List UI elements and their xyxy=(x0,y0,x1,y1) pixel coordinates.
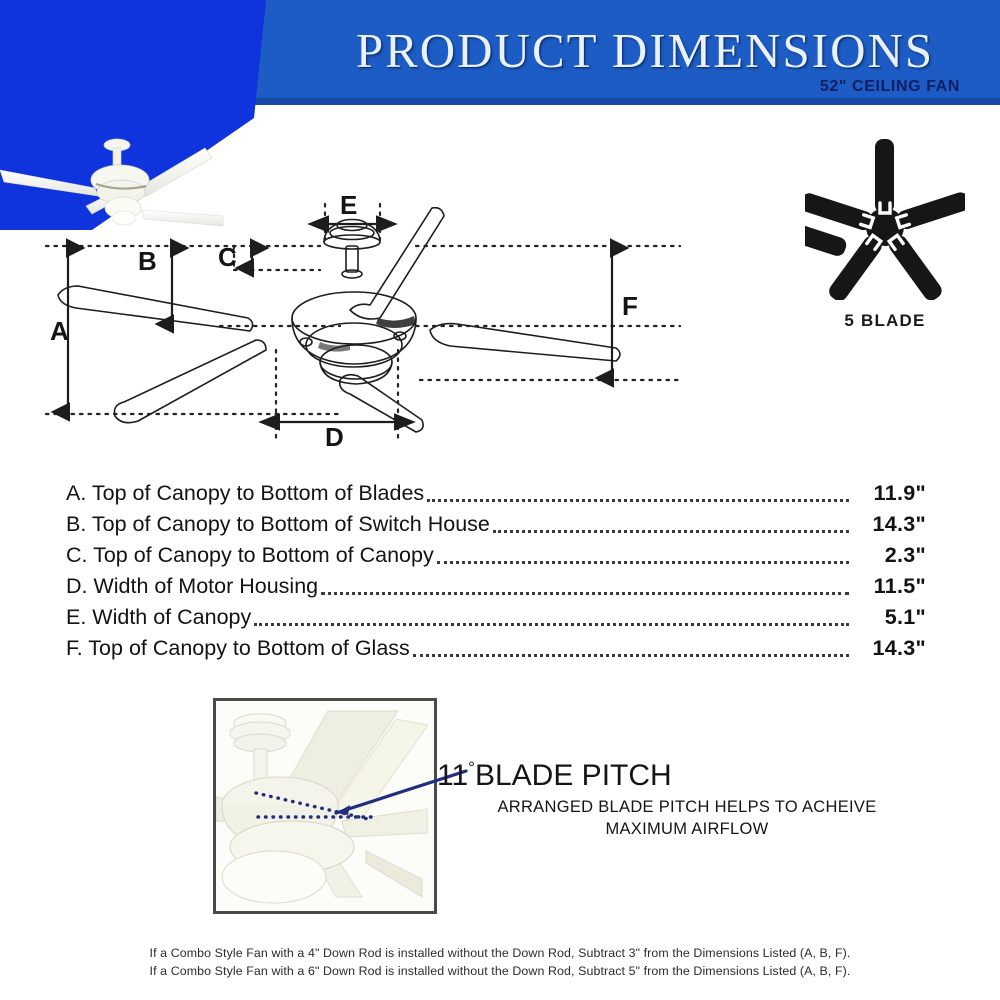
dimension-leader-a xyxy=(427,498,849,502)
dimension-row-a: A. Top of Canopy to Bottom of Blades 11.… xyxy=(66,478,926,509)
footer-line-2: If a Combo Style Fan with a 6" Down Rod … xyxy=(0,962,1000,980)
callout-label-f: F xyxy=(622,291,638,321)
callout-label-a: A xyxy=(50,316,69,346)
dimension-leader-d xyxy=(321,591,849,595)
dimension-list: A. Top of Canopy to Bottom of Blades 11.… xyxy=(66,478,926,664)
dimension-leader-e xyxy=(254,622,849,626)
blade-count-label: 5 BLADE xyxy=(795,311,975,331)
dimension-row-b: B. Top of Canopy to Bottom of Switch Hou… xyxy=(66,509,926,540)
dimension-leader-f xyxy=(413,653,849,657)
dimension-label-a: A. Top of Canopy to Bottom of Blades xyxy=(66,478,424,509)
dimension-row-d: D. Width of Motor Housing 11.5" xyxy=(66,571,926,602)
dimension-label-e: E. Width of Canopy xyxy=(66,602,251,633)
dimension-row-f: F. Top of Canopy to Bottom of Glass 14.3… xyxy=(66,633,926,664)
dimension-label-b: B. Top of Canopy to Bottom of Switch Hou… xyxy=(66,509,490,540)
dimension-value-e: 5.1" xyxy=(852,602,926,633)
callout-label-e: E xyxy=(340,190,357,220)
footer-note: If a Combo Style Fan with a 4" Down Rod … xyxy=(0,944,1000,980)
page-subtitle: 52" CEILING FAN xyxy=(820,78,960,96)
dimension-value-d: 11.5" xyxy=(852,571,926,602)
blade-pitch-heading-suffix: BLADE PITCH xyxy=(475,759,672,792)
dimension-label-d: D. Width of Motor Housing xyxy=(66,571,318,602)
blade-pitch-description-line1: ARRANGED BLADE PITCH HELPS TO ACHEIVE xyxy=(437,796,937,818)
blade-pitch-description: ARRANGED BLADE PITCH HELPS TO ACHEIVE MA… xyxy=(437,796,937,840)
dimension-value-f: 14.3" xyxy=(852,633,926,664)
blade-count-block: 5 BLADE xyxy=(795,135,975,331)
dimension-value-c: 2.3" xyxy=(852,540,926,571)
callout-label-b: B xyxy=(138,246,157,276)
fan-dimension-drawing: A B C D E F xyxy=(20,190,700,450)
blade-pitch-angle-value: 11 xyxy=(437,759,468,792)
blade-pitch-description-line2: MAXIMUM AIRFLOW xyxy=(437,818,937,840)
dimension-label-f: F. Top of Canopy to Bottom of Glass xyxy=(66,633,410,664)
dimension-leader-b xyxy=(493,529,849,533)
blade-pitch-heading: 11°BLADE PITCH xyxy=(437,758,957,793)
dimension-label-c: C. Top of Canopy to Bottom of Canopy xyxy=(66,540,434,571)
dimension-value-b: 14.3" xyxy=(852,509,926,540)
blade-pitch-callout: 11°BLADE PITCH ARRANGED BLADE PITCH HELP… xyxy=(437,758,957,840)
dimension-row-c: C. Top of Canopy to Bottom of Canopy 2.3… xyxy=(66,540,926,571)
degree-symbol-icon: ° xyxy=(468,758,475,777)
footer-line-1: If a Combo Style Fan with a 4" Down Rod … xyxy=(0,944,1000,962)
dimension-row-e: E. Width of Canopy 5.1" xyxy=(66,602,926,633)
page-title: PRODUCT DIMENSIONS xyxy=(320,22,970,79)
callout-label-c: C xyxy=(218,242,237,272)
dimension-leader-c xyxy=(437,560,849,564)
five-blade-fan-icon xyxy=(805,135,965,300)
callout-label-d: D xyxy=(325,422,344,450)
dimension-value-a: 11.9" xyxy=(852,478,926,509)
